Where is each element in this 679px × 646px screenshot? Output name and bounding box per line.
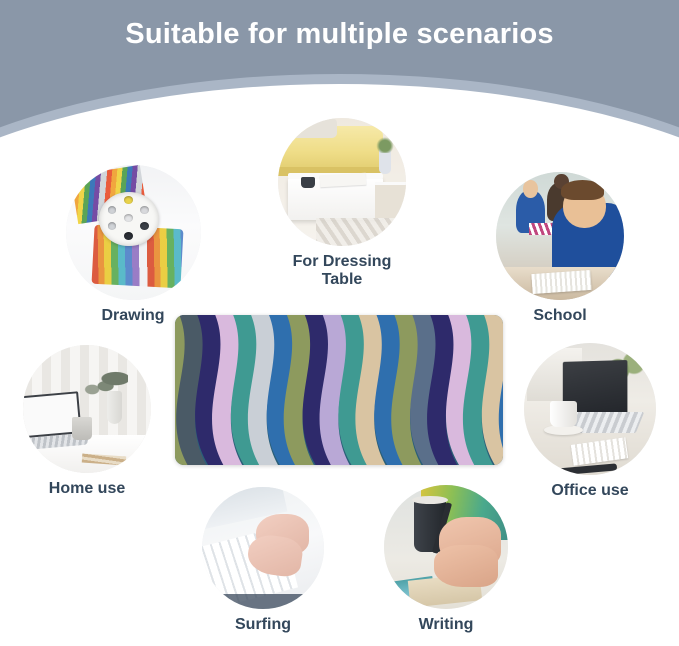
typing-hands-photo[interactable]	[202, 487, 324, 609]
paint-palette-icon	[99, 192, 158, 246]
scenario-surfing[interactable]: Surfing	[178, 487, 348, 634]
product-desk-mat-image[interactable]	[175, 315, 503, 465]
scenario-school[interactable]: School	[475, 172, 645, 325]
scenario-label-home-use: Home use	[2, 480, 172, 498]
scenario-home-use[interactable]: Home use	[2, 345, 172, 498]
school-photo-art	[496, 172, 624, 300]
cup-icon	[301, 177, 315, 189]
scenario-office-use[interactable]: Office use	[505, 343, 675, 500]
scenario-label-writing: Writing	[361, 616, 531, 634]
dressing-table-photo[interactable]	[278, 118, 406, 246]
drawing-photo-art	[66, 165, 201, 300]
pot-icon	[72, 417, 92, 440]
photo-shadow	[202, 594, 324, 609]
rug-icon	[316, 218, 406, 246]
hand-icon-second	[434, 545, 498, 587]
scenario-label-surfing: Surfing	[178, 616, 348, 634]
vase-icon	[107, 391, 121, 424]
scenario-writing[interactable]: Writing	[361, 485, 531, 634]
open-book-icon	[531, 270, 591, 295]
writing-hand-photo[interactable]	[384, 485, 508, 609]
notebook-icon	[570, 437, 628, 466]
scenario-label-dressing-table: For Dressing Table	[257, 253, 427, 289]
page-title: Suitable for multiple scenarios	[0, 18, 679, 51]
coffee-mug-icon	[550, 401, 576, 427]
student-head	[563, 185, 607, 229]
pillow-icon	[286, 118, 337, 138]
school-photo[interactable]	[496, 172, 624, 300]
shelf-icon	[375, 182, 406, 218]
dressing-table-photo-art	[278, 118, 406, 246]
drawing-photo[interactable]	[66, 165, 201, 300]
writing-hand-photo-art	[384, 485, 508, 609]
office-desk-photo[interactable]	[524, 343, 656, 475]
desk-mat-stripes	[175, 315, 503, 465]
home-desk-photo[interactable]	[23, 345, 151, 473]
typing-hands-photo-art	[202, 487, 324, 609]
pen-icon	[556, 463, 617, 475]
vase-icon	[379, 149, 391, 175]
scenario-dressing-table[interactable]: For Dressing Table	[257, 118, 427, 289]
office-desk-photo-art	[524, 343, 656, 475]
scenario-drawing[interactable]: Drawing	[48, 165, 218, 325]
home-desk-photo-art	[23, 345, 151, 473]
